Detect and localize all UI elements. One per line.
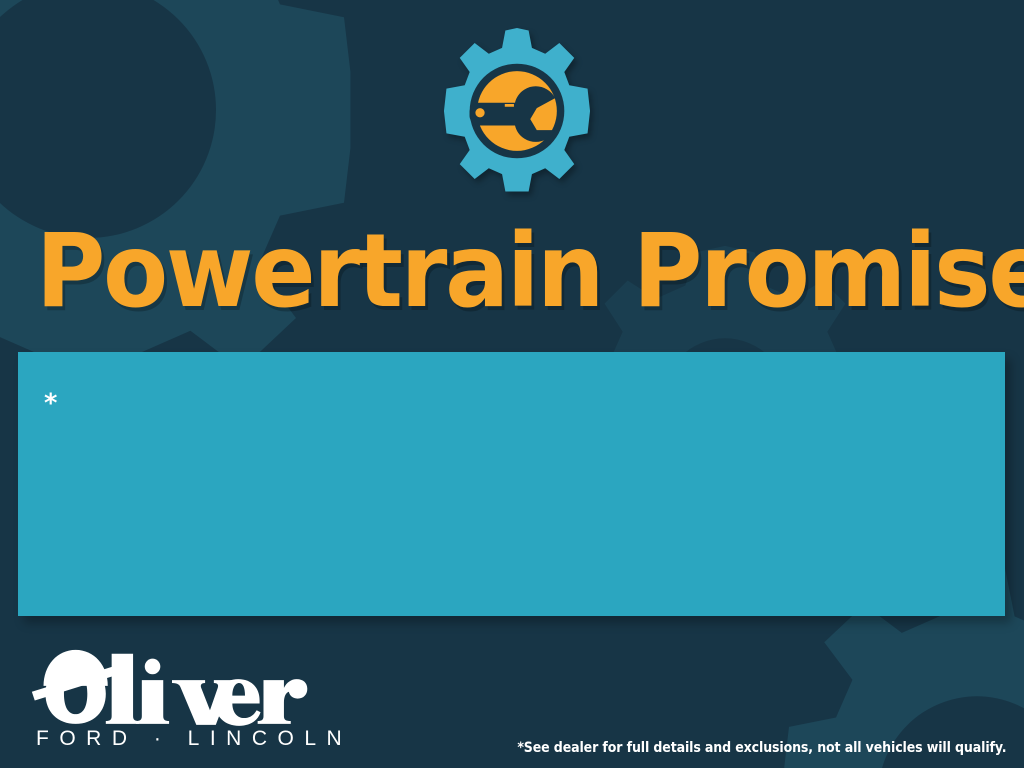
dealer-logo-subtitle: FORD · LINCOLN — [26, 727, 326, 751]
oliver-wordmark-icon — [26, 640, 318, 726]
footnote-marker: * — [44, 389, 57, 419]
dealer-logo: FORD · LINCOLN — [26, 640, 326, 751]
description-panel: * — [18, 352, 1005, 616]
page-title: Powertrain Promise — [36, 216, 988, 328]
gear-with-wrench-icon — [434, 28, 600, 194]
powertrain-promise-poster: Powertrain Promise * — [0, 0, 1024, 768]
disclaimer-text: *See dealer for full details and exclusi… — [517, 740, 1006, 756]
description-text: * — [44, 388, 965, 438]
